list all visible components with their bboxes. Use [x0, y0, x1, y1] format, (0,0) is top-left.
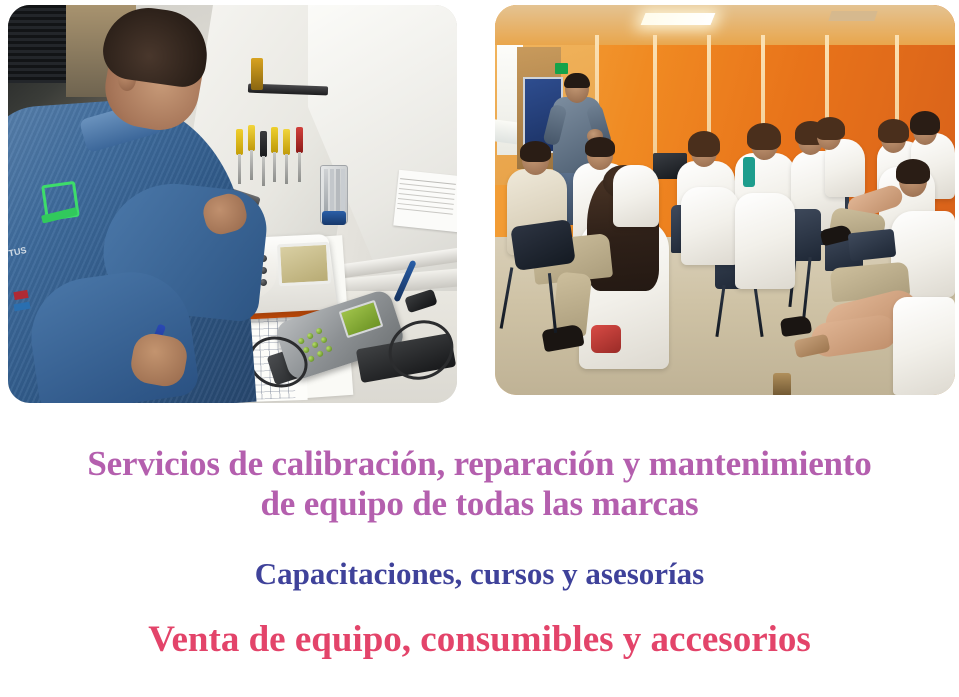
attendee-lanyard: [743, 157, 755, 187]
photo-training-session: [495, 5, 955, 395]
ceiling: [495, 5, 955, 45]
attendee-hair: [747, 123, 781, 150]
audiometer-display: [277, 242, 331, 287]
yellow-clamp: [251, 58, 263, 90]
attendee-hair: [585, 137, 615, 157]
services-text-block: Servicios de calibración, reparación y m…: [0, 410, 959, 662]
headline-sales: Venta de equipo, consumibles y accesorio…: [0, 618, 959, 662]
presenter-hair: [564, 73, 590, 88]
lab-scene: TUS: [8, 5, 457, 403]
chair: [848, 229, 897, 262]
blue-container-cap: [322, 211, 346, 225]
attendee-hair: [520, 141, 551, 162]
attendee-hair: [688, 131, 720, 157]
attendee-hair: [878, 119, 909, 143]
attendee-coat: [681, 187, 739, 265]
attendee-hair: [815, 117, 845, 140]
headline-services: Servicios de calibración, reparación y m…: [0, 444, 959, 524]
ceiling-vent: [828, 11, 877, 21]
headline-training: Capacitaciones, cursos y asesorías: [0, 556, 959, 592]
photo-calibration-service: TUS: [8, 5, 457, 403]
headline-services-line-1: Servicios de calibración, reparación y m…: [0, 444, 959, 484]
backpack: [510, 219, 576, 271]
classroom-scene: [495, 5, 955, 395]
headline-services-line-2: de equipo de todas las marcas: [0, 484, 959, 524]
shirt-embroidered-logo: [37, 178, 85, 231]
attendee-hair: [896, 159, 930, 184]
red-bag: [591, 325, 621, 353]
attendee-hair: [910, 111, 940, 135]
ceiling-light-fixture: [641, 13, 716, 25]
attendee-coat: [735, 193, 795, 289]
exit-sign-icon: [555, 63, 568, 74]
attendee-coat: [613, 165, 659, 227]
attendee-coat: [893, 297, 955, 395]
photo-row: TUS: [0, 0, 959, 410]
floor-object: [773, 373, 791, 395]
